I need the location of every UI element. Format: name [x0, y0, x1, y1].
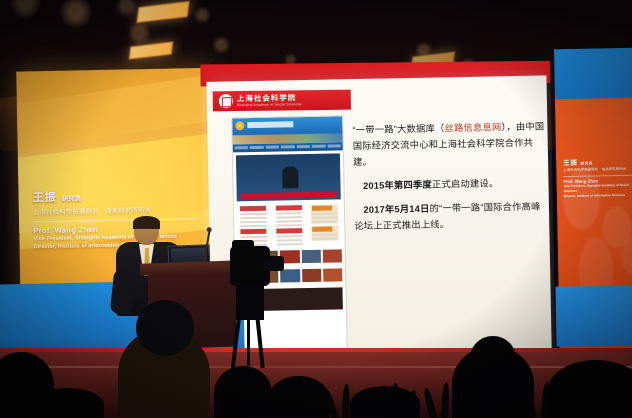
article-line [240, 217, 267, 220]
sidebar-heading [313, 227, 333, 232]
site-section [240, 206, 267, 228]
audience-silhouette [214, 366, 272, 418]
camera-lens-icon [264, 256, 284, 271]
sidebar-box [311, 204, 338, 224]
nav-item [296, 145, 309, 148]
site-title-placeholder [247, 121, 293, 128]
conference-photo: 王振研究员 上海社会科学院副院长 信息研究所所长 Prof. Wang Zhen… [0, 0, 632, 418]
speaker-cn-name: 王振研究员 [33, 186, 205, 205]
camera-mount [236, 282, 264, 320]
speaker-intro-right: 王振研究员 上海社会科学院副院长 信息研究所所长 Prof. Wang Zhen… [563, 156, 632, 199]
video-camera-on-tripod [214, 246, 292, 366]
site-hero-video [236, 153, 341, 201]
site-sidebar [308, 202, 342, 247]
speaker-cn-role: 研究员 [62, 195, 82, 202]
thumbnail [323, 249, 342, 262]
sass-logo-icon [219, 94, 233, 108]
nav-item [312, 145, 325, 148]
speaker-cn-title: 上海社会科学院副院长 信息研究所所长 [563, 167, 632, 173]
speaker-cn-name: 王振研究员 [563, 156, 632, 167]
org-name-cn: 上海社会科学院 [237, 94, 302, 102]
article-line [276, 220, 303, 223]
sidebar-line [313, 233, 338, 235]
thumbnail [323, 268, 342, 281]
section-heading [276, 205, 302, 210]
nav-item [235, 146, 248, 149]
presenter-arm [110, 269, 136, 315]
nav-item [327, 144, 340, 147]
thumbnail [302, 269, 321, 282]
section-heading [240, 206, 266, 211]
nav-item [266, 146, 279, 149]
speaker-cn-title: 上海社会科学院副院长 信息研究所所长 [33, 204, 205, 216]
audience-head [136, 300, 194, 356]
site-column [273, 203, 307, 248]
section-heading [276, 228, 302, 233]
article-line [276, 216, 303, 219]
site-banner [232, 116, 342, 144]
site-section [276, 205, 303, 227]
audience-silhouette [30, 388, 104, 418]
site-section [276, 228, 303, 246]
hero-caption [241, 191, 337, 199]
audience-silhouette [268, 376, 330, 418]
slide-text-block: “一带一路”大数据库（丝路信息息网），由中国国际经济交流中心和上海社会科学院合作… [352, 119, 550, 243]
speaker-cn-role: 研究员 [580, 162, 593, 166]
article-line [276, 224, 303, 227]
article-line [276, 235, 303, 238]
article-line [276, 239, 303, 242]
sidebar-line [312, 212, 337, 214]
article-line [240, 236, 267, 239]
divider [563, 175, 632, 177]
tripod-leg [247, 316, 250, 366]
sidebar-heading [312, 206, 332, 211]
article-line [240, 213, 267, 216]
slide-date-1: 2015年第四季度 [363, 180, 432, 191]
slide-paragraph-1: “一带一路”大数据库（丝路信息息网），由中国国际经济交流中心和上海社会科学院合作… [352, 119, 549, 171]
tripod-leg [255, 316, 264, 368]
slide-org-header: 上海社会科学院 Shanghai Academy of Social Scien… [213, 90, 351, 112]
slide-paragraph-3: 2017年5月14日的“一带一路”国际合作高峰论坛上正式推出上线。 [354, 199, 551, 235]
slide-date-2: 2017年5月14日 [363, 204, 429, 215]
sidebar-box [312, 225, 339, 241]
right-blue-band [554, 48, 632, 102]
section-heading [240, 229, 266, 234]
audience-silhouette [350, 386, 420, 418]
article-line [240, 225, 267, 228]
blue-led-band-right [555, 285, 632, 346]
audience-silhouette [548, 360, 632, 418]
site-logo-icon [235, 121, 244, 130]
sidebar-line [313, 220, 338, 222]
sidebar-line [313, 237, 338, 239]
org-name-en: Shanghai Academy of Social Sciences [237, 103, 302, 107]
tripod-leg [231, 316, 241, 368]
ceiling-light-panel [136, 1, 189, 23]
presenter-hair [133, 216, 160, 229]
audience-head [470, 336, 516, 380]
sidebar-line [312, 216, 337, 218]
article-line [276, 212, 303, 215]
slide-highlight: 丝路信息息网 [444, 122, 501, 133]
thumbnail [301, 250, 320, 263]
hero-person [282, 166, 298, 188]
nav-item [281, 145, 294, 148]
nav-item [250, 146, 263, 149]
slide-paragraph-2: 2015年第四季度正式启动建设。 [353, 175, 549, 195]
article-line [240, 221, 267, 224]
